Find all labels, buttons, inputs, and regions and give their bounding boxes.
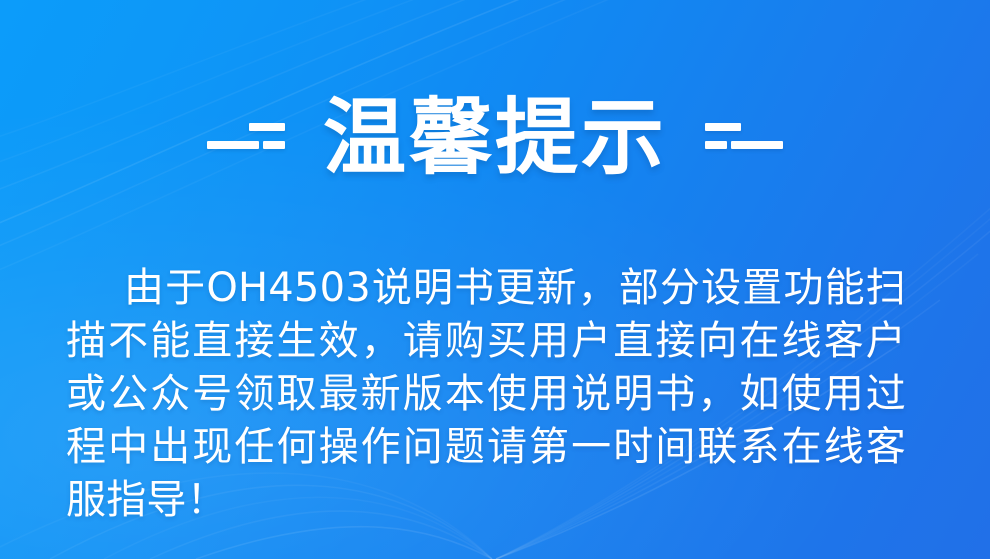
notice-body: 由于OH4503说明书更新，部分设置功能扫描不能直接生效，请购买用户直接向在线客… — [66, 262, 906, 527]
title-row: 温馨提示 — [0, 96, 990, 179]
poster-title: 温馨提示 — [323, 96, 667, 179]
notice-body-text: 由于OH4503说明书更新，部分设置功能扫描不能直接生效，请购买用户直接向在线客… — [66, 262, 906, 527]
notice-poster: 温馨提示 由于OH4503说明书更新，部分设置功能扫描不能直接生效，请购买用户直… — [0, 0, 990, 559]
dash-ornament-right-icon — [697, 115, 783, 161]
dash-ornament-left-icon — [207, 115, 293, 161]
